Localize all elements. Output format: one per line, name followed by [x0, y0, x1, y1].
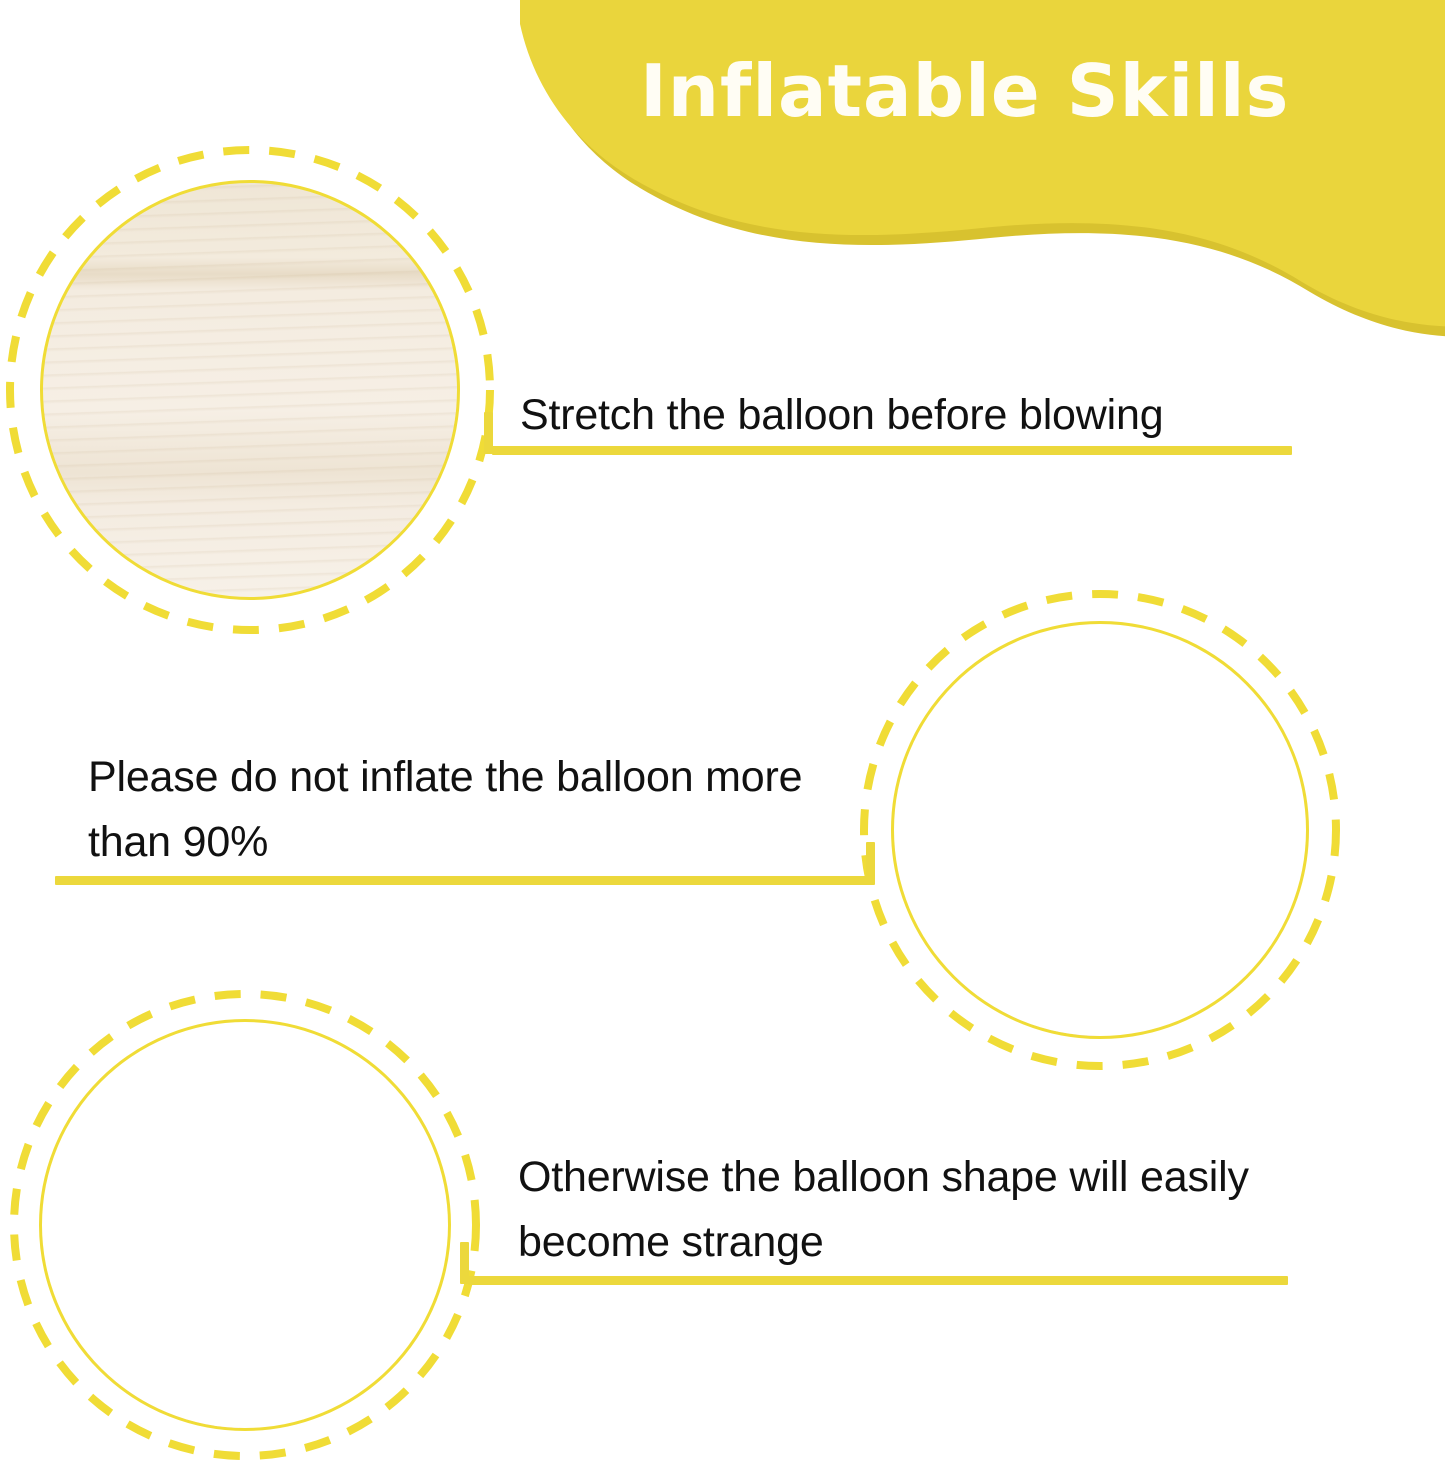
- step-1-underline-tick: [484, 412, 493, 454]
- step-3-caption: Otherwise the balloon shape will easily …: [518, 1145, 1308, 1275]
- step-2-caption: Please do not inflate the balloon more t…: [88, 745, 878, 875]
- step-1-image-circle: [0, 140, 500, 640]
- step-1-caption: Stretch the balloon before blowing: [520, 383, 1300, 448]
- infographic-canvas: Inflatable Skills: [0, 0, 1445, 1475]
- step-2-image-circle: [855, 585, 1345, 1075]
- photo-over-inflated-balloon: [42, 1022, 448, 1428]
- step-3-underline: [468, 1276, 1288, 1285]
- photo-correctly-inflated-balloon: [894, 624, 1306, 1036]
- step-3-image-circle: [5, 985, 485, 1465]
- step-2-underline: [55, 876, 875, 885]
- step-3-underline-tick: [460, 1242, 469, 1284]
- page-title: Inflatable Skills: [640, 36, 1440, 146]
- photo-stretching-balloon: [43, 183, 457, 597]
